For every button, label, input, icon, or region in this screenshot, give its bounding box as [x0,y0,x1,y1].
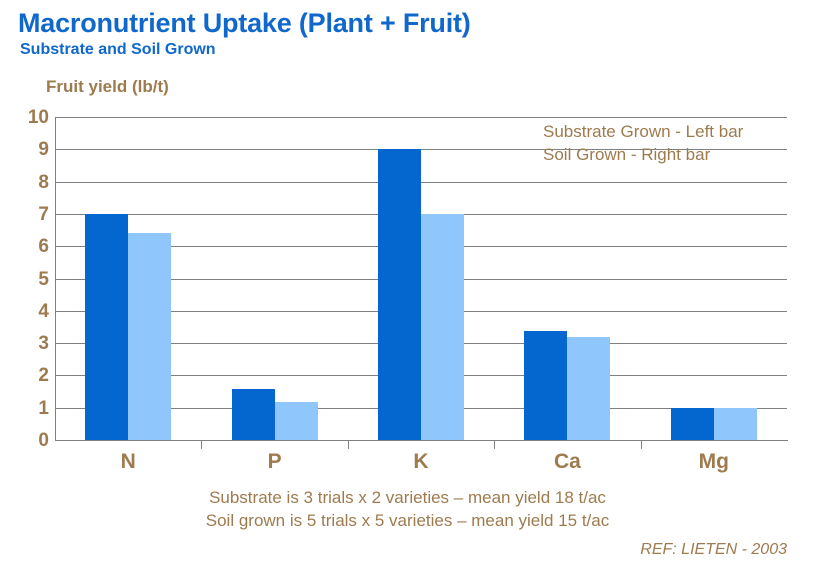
bar-Mg-soil [714,408,757,440]
source-reference: REF: LIETEN - 2003 [640,541,787,559]
bar-Mg-substrate [671,408,714,440]
x-axis-line [55,440,788,441]
bar-Ca-soil [567,337,610,440]
y-axis-line [55,118,56,441]
y-axis-tick-labels: 012345678910 [5,118,49,441]
y-axis-tick-label: 9 [15,139,49,161]
bar-N-soil [128,233,171,440]
y-axis-title: Fruit yield (lb/t) [46,77,169,97]
y-axis-tick-label: 8 [15,172,49,194]
x-axis-tick-label: N [121,450,136,474]
category-tick [494,440,495,449]
bar-P-substrate [232,389,275,440]
x-axis-tick-label: Mg [699,450,729,474]
legend-item-substrate: Substrate Grown - Left bar [543,120,743,143]
y-axis-tick-label: 1 [15,398,49,420]
footnote-substrate: Substrate is 3 trials x 2 varieties – me… [0,486,815,509]
page-title: Macronutrient Uptake (Plant + Fruit) [18,8,471,39]
y-axis-tick-label: 2 [15,365,49,387]
bar-K-soil [421,214,464,440]
x-axis-tick-label: Ca [554,450,581,474]
legend-item-soil: Soil Grown - Right bar [543,143,743,166]
gridline [55,182,787,183]
y-axis-tick-label: 6 [15,236,49,258]
bar-P-soil [275,402,318,440]
x-axis-tick-labels: NPKCaMg [55,450,787,478]
category-tick [641,440,642,449]
y-axis-tick-label: 10 [15,107,49,129]
gridline [55,117,787,118]
y-axis-tick-label: 5 [15,269,49,291]
category-tick [201,440,202,449]
y-axis-tick-label: 4 [15,301,49,323]
x-axis-tick-label: P [268,450,282,474]
y-axis-tick-label: 7 [15,204,49,226]
plot-area [55,118,787,441]
legend: Substrate Grown - Left bar Soil Grown - … [543,120,743,166]
bar-N-substrate [85,214,128,440]
bar-K-substrate [378,149,421,440]
bar-Ca-substrate [524,331,567,440]
x-axis-tick-label: K [413,450,428,474]
page-subtitle: Substrate and Soil Grown [20,41,216,59]
footnote-soil: Soil grown is 5 trials x 5 varieties – m… [0,509,815,532]
footnotes: Substrate is 3 trials x 2 varieties – me… [0,486,815,532]
category-tick [348,440,349,449]
y-axis-tick-label: 0 [15,430,49,452]
y-axis-tick-label: 3 [15,333,49,355]
